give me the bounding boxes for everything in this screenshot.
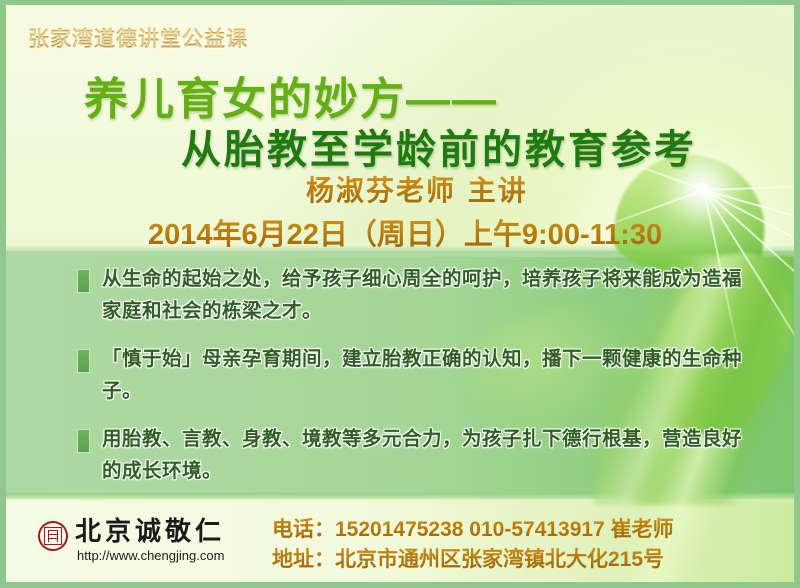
list-item: 「慎于始」母亲孕育期间，建立胎教正确的认知，播下一颗健康的生命种子。 <box>78 343 750 407</box>
list-item: 用胎教、言教、身教、境教等多元合力，为孩子扎下德行根基，营造良好的成长环境。 <box>78 423 750 487</box>
sunburst-icon <box>696 183 708 195</box>
bullet-square-icon <box>78 350 89 372</box>
contact-phone: 电话：15201475238 010-57413917 崔老师 <box>272 515 674 545</box>
page-title-line2: 从胎教至学龄前的教育参考 <box>181 117 697 175</box>
kicker-label: 张家湾道德讲堂公益课 <box>28 23 248 53</box>
contact-address: 地址：北京市通州区张家湾镇北大化215号 <box>272 545 674 575</box>
brand-name: 北京诚敬仁 <box>75 517 225 547</box>
bullet-square-icon <box>78 430 89 452</box>
bullet-square-icon <box>78 270 89 292</box>
highlights-list: 从生命的起始之处，给予孩子细心周全的呵护，培养孩子将来能成为造福家庭和社会的栋梁… <box>78 263 750 503</box>
poster-root: 张家湾道德讲堂公益课 养儿育女的妙方—— 从胎教至学龄前的教育参考 杨淑芬老师 … <box>0 0 800 588</box>
poster-canvas: 张家湾道德讲堂公益课 养儿育女的妙方—— 从胎教至学龄前的教育参考 杨淑芬老师 … <box>6 5 794 582</box>
contact-block: 电话：15201475238 010-57413917 崔老师 地址：北京市通州… <box>272 515 674 575</box>
seal-stamp-icon <box>38 521 68 551</box>
datetime-label: 2014年6月22日（周日）上午9:00-11:30 <box>148 211 662 253</box>
list-item: 从生命的起始之处，给予孩子细心周全的呵护，培养孩子将来能成为造福家庭和社会的栋梁… <box>78 263 750 327</box>
list-item-text: 从生命的起始之处，给予孩子细心周全的呵护，培养孩子将来能成为造福家庭和社会的栋梁… <box>102 263 750 327</box>
brand-logo: 北京诚敬仁 http://www.chengjing.com <box>38 517 225 563</box>
speaker-label: 杨淑芬老师 主讲 <box>306 169 528 209</box>
list-item-text: 「慎于始」母亲孕育期间，建立胎教正确的认知，播下一颗健康的生命种子。 <box>102 343 750 407</box>
brand-text-block: 北京诚敬仁 http://www.chengjing.com <box>75 517 225 563</box>
brand-website-link[interactable]: http://www.chengjing.com <box>77 548 225 563</box>
list-item-text: 用胎教、言教、身教、境教等多元合力，为孩子扎下德行根基，营造良好的成长环境。 <box>102 423 750 487</box>
